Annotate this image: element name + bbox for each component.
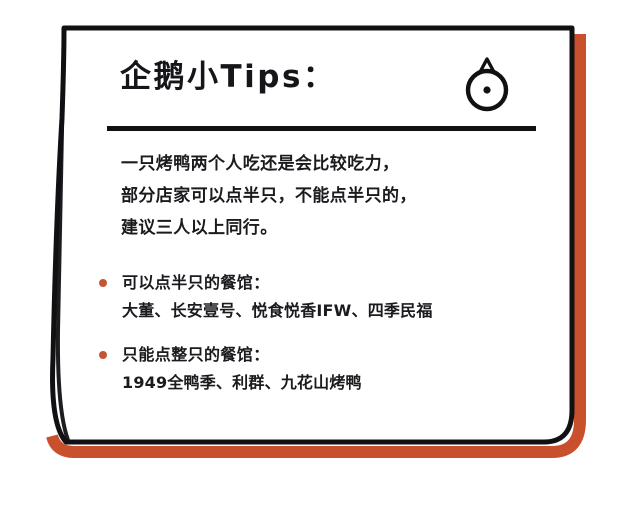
bullet-dot-icon: [99, 279, 107, 287]
bullet-list: 可以点半只的餐馆： 大董、长安壹号、悦食悦香IFW、四季民福 只能点整只的餐馆：…: [98, 270, 538, 414]
bullet-item-whole-only: 只能点整只的餐馆： 1949全鸭季、利群、九花山烤鸭: [98, 342, 538, 398]
card-content: 企鹅小Tips： 一只烤鸭两个人吃还是会比较吃力， 部分店家可以点半只，不能点半…: [62, 26, 539, 451]
intro-paragraph: 一只烤鸭两个人吃还是会比较吃力， 部分店家可以点半只，不能点半只的， 建议三人以…: [121, 148, 531, 244]
intro-line-1: 一只烤鸭两个人吃还是会比较吃力，: [121, 148, 531, 180]
card-header: 企鹅小Tips：: [62, 26, 539, 122]
bullet-heading: 只能点整只的餐馆：: [122, 342, 538, 368]
bullet-restaurant-list: 大董、长安壹号、悦食悦香IFW、四季民福: [122, 296, 538, 326]
bullet-item-half-portion: 可以点半只的餐馆： 大董、长安壹号、悦食悦香IFW、四季民福: [98, 270, 538, 326]
intro-line-3: 建议三人以上同行。: [121, 212, 531, 244]
bullet-heading: 可以点半只的餐馆：: [122, 270, 538, 296]
bullet-dot-icon: [99, 351, 107, 359]
penguin-badge-icon: [459, 55, 515, 113]
title-divider: [107, 126, 536, 131]
bullet-restaurant-list: 1949全鸭季、利群、九花山烤鸭: [122, 368, 538, 398]
intro-line-2: 部分店家可以点半只，不能点半只的，: [121, 180, 531, 212]
page-title: 企鹅小Tips：: [120, 62, 336, 93]
tips-card: 企鹅小Tips： 一只烤鸭两个人吃还是会比较吃力， 部分店家可以点半只，不能点半…: [0, 0, 640, 518]
